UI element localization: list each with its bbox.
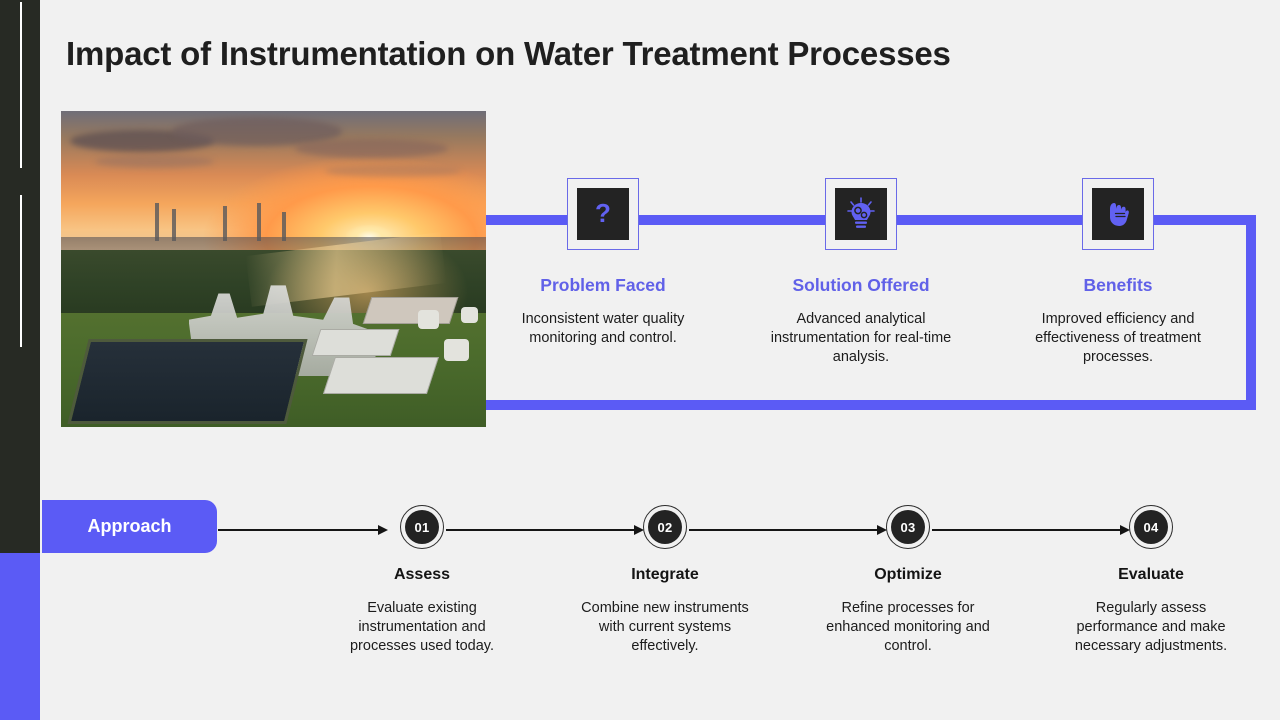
column-heading: Problem Faced: [488, 274, 718, 296]
photo-smokestack: [282, 212, 286, 240]
step-title: Integrate: [555, 565, 775, 585]
photo-storage-tank: [461, 307, 478, 323]
step-number: 01: [405, 510, 439, 544]
column-body: Advanced analytical instrumentation for …: [746, 310, 976, 367]
approach-step-01: 01 Assess Evaluate existing instrumentat…: [312, 505, 532, 656]
icon-frame: [1082, 178, 1154, 250]
step-body: Regularly assess performance and make ne…: [1041, 599, 1261, 656]
icon-frame: ?: [567, 178, 639, 250]
step-body: Refine processes for enhanced monitoring…: [798, 599, 1018, 656]
step-number-badge: 01: [400, 505, 444, 549]
step-body: Combine new instruments with current sys…: [555, 599, 775, 656]
photo-storage-tank: [444, 339, 470, 361]
step-number: 04: [1134, 510, 1168, 544]
step-title: Assess: [312, 565, 532, 585]
column-body: Improved efficiency and effectiveness of…: [1003, 310, 1233, 367]
approach-step-02: 02 Integrate Combine new instruments wit…: [555, 505, 775, 656]
approach-step-03: 03 Optimize Refine processes for enhance…: [798, 505, 1018, 656]
photo-settling-pond: [67, 339, 307, 424]
question-mark-icon: ?: [577, 188, 629, 240]
approach-label-text: Approach: [87, 516, 171, 537]
accent-frame-bottom-bar: [486, 400, 1256, 410]
photo-building: [363, 297, 459, 324]
photo-smokestack: [223, 206, 227, 241]
rail-divider-line-top: [20, 2, 22, 168]
lightbulb-gears-icon: [835, 188, 887, 240]
page-title: Impact of Instrumentation on Water Treat…: [66, 30, 1246, 78]
step-number-badge: 03: [886, 505, 930, 549]
step-title: Optimize: [798, 565, 1018, 585]
photo-building: [323, 357, 439, 394]
approach-step-04: 04 Evaluate Regularly assess performance…: [1041, 505, 1261, 656]
column-heading: Benefits: [1003, 274, 1233, 296]
rail-divider-line-bottom: [20, 195, 22, 347]
top-column-benefits: Benefits Improved efficiency and effecti…: [1003, 178, 1233, 367]
water-treatment-plant-photo: [61, 111, 486, 427]
photo-smokestack: [257, 203, 261, 241]
photo-building: [312, 329, 399, 356]
column-body: Inconsistent water quality monitoring an…: [488, 310, 718, 348]
step-number-badge: 02: [643, 505, 687, 549]
step-number: 02: [648, 510, 682, 544]
photo-smokestack: [172, 209, 176, 241]
photo-cloud: [95, 155, 214, 168]
step-body: Evaluate existing instrumentation and pr…: [312, 599, 532, 656]
top-column-solution-offered: Solution Offered Advanced analytical ins…: [746, 178, 976, 367]
column-heading: Solution Offered: [746, 274, 976, 296]
left-rail-accent: [0, 553, 40, 720]
approach-label-button[interactable]: Approach: [42, 500, 217, 553]
step-title: Evaluate: [1041, 565, 1261, 585]
top-column-problem-faced: ? Problem Faced Inconsistent water quali…: [488, 178, 718, 348]
icon-frame: [825, 178, 897, 250]
step-number-badge: 04: [1129, 505, 1173, 549]
svg-text:?: ?: [595, 198, 611, 228]
step-number: 03: [891, 510, 925, 544]
raised-fist-icon: [1092, 188, 1144, 240]
slide-canvas: Impact of Instrumentation on Water Treat…: [0, 0, 1280, 720]
photo-storage-tank: [418, 310, 439, 329]
accent-frame-right-bar: [1246, 215, 1256, 410]
photo-smokestack: [155, 203, 159, 241]
